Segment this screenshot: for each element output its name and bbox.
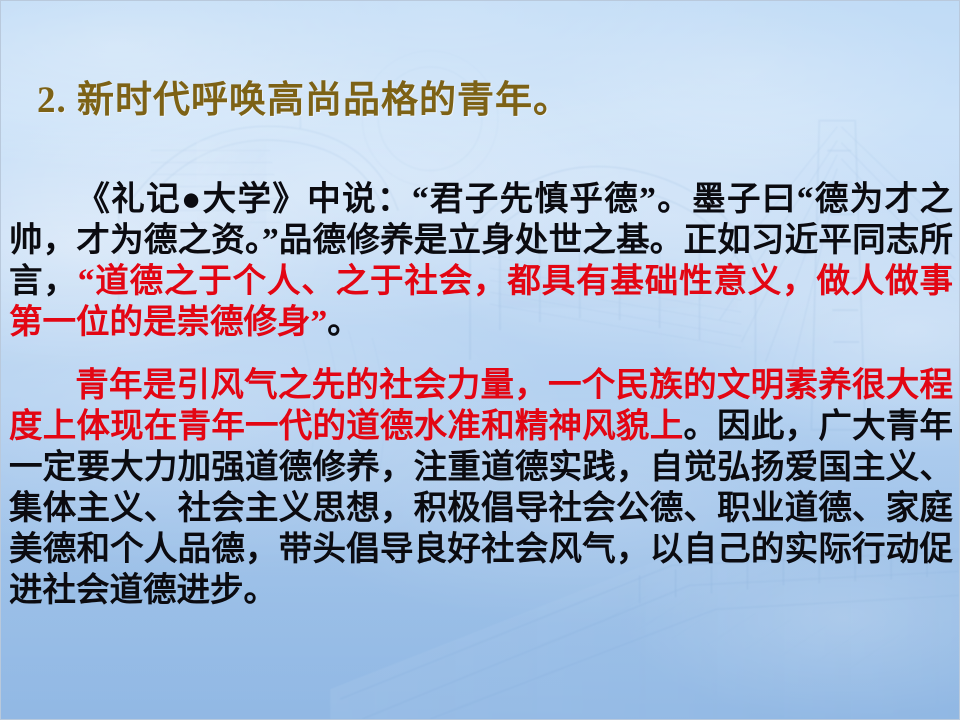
paragraph-1-run-3: 。 [327,304,361,341]
slide-content: 2. 新时代呼唤高尚品格的青年。 《礼记●大学》中说：“君子先慎乎德”。墨子曰“… [1,1,959,719]
slide-body: 《礼记●大学》中说：“君子先慎乎德”。墨子曰“德为才之帅，才为德之资。”品德修养… [9,179,953,611]
presentation-slide: 2. 新时代呼唤高尚品格的青年。 《礼记●大学》中说：“君子先慎乎德”。墨子曰“… [0,0,960,720]
paragraph-2: 青年是引风气之先的社会力量，一个民族的文明素养很大程度上体现在青年一代的道德水准… [9,365,953,611]
paragraph-1-run-2-highlight: “道德之于个人、之于社会，都具有基础性意义，做人做事第一位的是崇德修身” [9,263,953,341]
paragraph-1: 《礼记●大学》中说：“君子先慎乎德”。墨子曰“德为才之帅，才为德之资。”品德修养… [9,179,953,343]
slide-title: 2. 新时代呼唤高尚品格的青年。 [37,69,571,123]
